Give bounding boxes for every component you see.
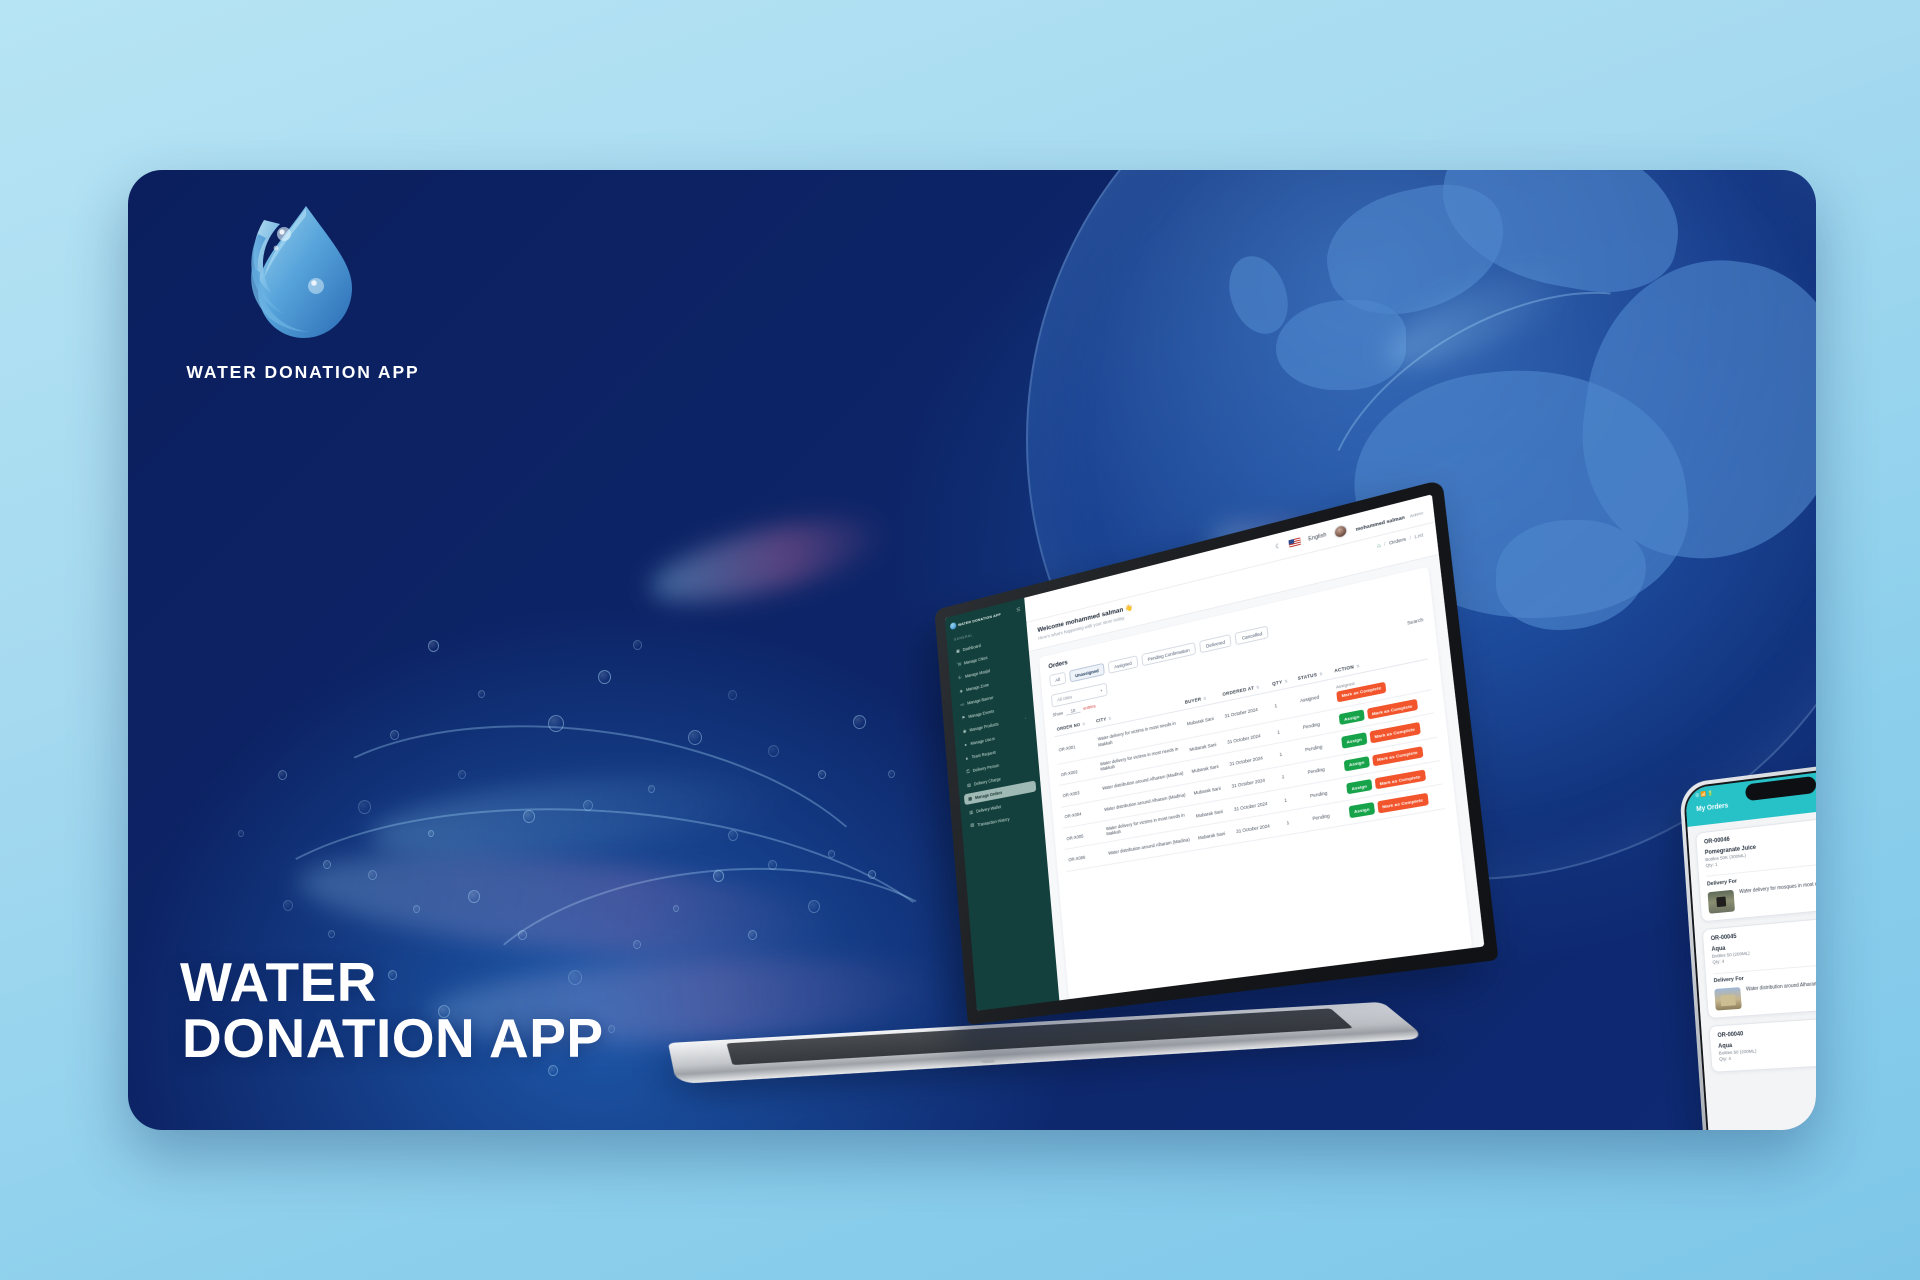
- laptop-screen: WATER DONATION APP ☰ GENERAL ▣DashboardἽ…: [945, 494, 1485, 1011]
- sidebar-item-list: ▣DashboardἽ9Manage Cities☪Manage Masjid◈…: [952, 630, 1039, 833]
- sidebar-item-label: Manage Events: [968, 709, 994, 719]
- bubble-icon: [478, 690, 485, 698]
- bubble-icon: [368, 870, 377, 880]
- order-id: OR-00046: [1704, 837, 1730, 846]
- show-count[interactable]: 10: [1066, 707, 1081, 716]
- search-label[interactable]: Search: [1407, 617, 1424, 626]
- mark-complete-button[interactable]: Mark as Complete: [1374, 770, 1425, 790]
- orders-table: ORDER NO⇅CITY⇅BUYER⇅ORDERED AT⇅QTY⇅STATU…: [1053, 644, 1445, 871]
- bubble-icon: [608, 1025, 615, 1033]
- assign-button[interactable]: Assign: [1349, 802, 1375, 817]
- assign-button[interactable]: Assign: [1339, 710, 1365, 726]
- breadcrumb-parent[interactable]: Orders: [1389, 537, 1407, 546]
- mosque-icon: ☪: [958, 675, 963, 681]
- sidebar-item-label: Manage Products: [969, 722, 998, 733]
- water-drop-icon: [228, 190, 378, 350]
- breadcrumb-sep: /: [1409, 536, 1411, 542]
- sidebar-item-label: Dashboard: [963, 643, 981, 652]
- bubble-icon: [518, 930, 527, 940]
- order-card-body: AquaBottles 50 (200ML)Qty: 4Total Amount…: [1718, 1034, 1816, 1064]
- product-block: Pomegranate JuiceBottles 50K (300ML)Qty:…: [1705, 845, 1758, 871]
- sidebar-item-label: Delivery Wallet: [976, 804, 1001, 814]
- city-filter-value: All cities: [1057, 694, 1072, 702]
- bubble-icon: [390, 730, 399, 740]
- delivery-person-icon: ⚿: [965, 769, 970, 775]
- product-block: AquaBottles 50 (200ML)Qty: 4: [1711, 944, 1750, 967]
- sidebar-item-label: Transaction History: [977, 816, 1010, 827]
- tab-delivered[interactable]: Delivered: [1199, 634, 1232, 654]
- sort-icon: ⇅: [1284, 679, 1288, 684]
- product-meta: Bottles 50 (200ML)Qty: 4: [1712, 951, 1751, 967]
- sidebar-item-label: Team Request: [972, 750, 996, 760]
- phone-header-title: My Orders: [1696, 802, 1728, 813]
- delivery-description: Water distribution around Alharam (Madin…: [1746, 980, 1816, 994]
- page-title-line2: DONATION APP: [180, 1010, 604, 1066]
- kaaba-thumb: [1708, 890, 1735, 914]
- order-id: OR-00045: [1711, 934, 1737, 942]
- sidebar-item-label: Delivery Charge: [974, 776, 1001, 786]
- admin-content: ☾ English mohammed salman Admin Welcome …: [1024, 494, 1484, 1000]
- sidebar-item-label: Manage Masjid: [965, 669, 990, 680]
- sidebar-item-label: Manage Orders: [975, 790, 1003, 800]
- delivery-for-label: Delivery For: [1707, 879, 1737, 888]
- sidebar-item-label: Manage Cities: [964, 655, 988, 665]
- event-icon: ⚑: [961, 715, 966, 721]
- phone-order-list[interactable]: OR-00046٢٠٢٤-١٢-٣١Pomegranate JuiceBottl…: [1687, 804, 1816, 1130]
- bubble-icon: [598, 670, 611, 684]
- bubble-icon: [458, 770, 466, 779]
- show-label: Show: [1052, 711, 1063, 718]
- order-id: OR-00040: [1717, 1032, 1743, 1040]
- cell-status: Pending: [1308, 801, 1347, 830]
- delivery-for-label: Delivery For: [1714, 976, 1744, 984]
- brand-logo: WATER DONATION APP: [178, 190, 428, 383]
- bubble-icon: [238, 830, 244, 837]
- mark-complete-button[interactable]: Mark as Complete: [1377, 793, 1428, 813]
- product-icon: ◉: [962, 728, 967, 734]
- bubble-icon: [323, 860, 331, 869]
- bubble-icon: [328, 930, 335, 938]
- bubble-icon: [428, 640, 439, 652]
- assign-button[interactable]: Assign: [1341, 733, 1367, 749]
- user-name: mohammed salman: [1355, 515, 1405, 533]
- sort-icon: ⇅: [1108, 716, 1112, 721]
- breadcrumb-current: List: [1414, 533, 1423, 541]
- bubble-icon: [428, 830, 434, 837]
- wave-icon: 👋: [1125, 604, 1134, 613]
- sort-icon: ⇅: [1319, 672, 1323, 677]
- bubble-icon: [548, 715, 564, 732]
- bubble-icon: [648, 785, 655, 793]
- charge-icon: ▤: [967, 782, 972, 788]
- page-title-line1: WATER: [180, 954, 604, 1010]
- menu-icon[interactable]: ☰: [1016, 606, 1021, 613]
- tab-assigned[interactable]: Assigned: [1108, 655, 1138, 674]
- water-drop-icon: [950, 622, 957, 630]
- avatar[interactable]: [1334, 523, 1349, 539]
- page-title: WATER DONATION APP: [180, 954, 604, 1066]
- chevron-down-icon: ▾: [1100, 687, 1102, 692]
- list-item[interactable]: OR-000452024-12-28AquaBottles 50 (200ML)…: [1702, 913, 1816, 1019]
- laptop-mockup: WATER DONATION APP ☰ GENERAL ▣DashboardἽ…: [668, 595, 1468, 1115]
- entries-label: entries: [1083, 704, 1096, 712]
- tab-cancelled[interactable]: Cancelled: [1235, 625, 1269, 645]
- city-icon: Ἵ9: [957, 662, 962, 668]
- assign-button[interactable]: Assign: [1344, 756, 1370, 772]
- team-icon: ▲: [964, 755, 969, 761]
- bubble-icon: [278, 770, 287, 780]
- brand-name: WATER DONATION APP: [178, 362, 428, 383]
- phone-screen: ◎ 📶 🔋 ◎ 4G ▂▄▆ 79% My Orders 🔔 OR-00046٢…: [1683, 763, 1816, 1130]
- chevron-right-icon: ›: [1025, 716, 1027, 721]
- hero-card: WATER DONATION APP WATER DONATION APP WA…: [128, 170, 1816, 1130]
- bubble-icon: [633, 940, 641, 949]
- bubble-icon: [358, 800, 371, 814]
- wallet-icon: ▥: [969, 809, 974, 815]
- sort-icon: ⇅: [1082, 722, 1086, 727]
- sidebar-logo-text: WATER DONATION APP: [958, 612, 1001, 627]
- sidebar-item-label: Delivery Person: [973, 763, 1000, 773]
- user-role: Admin: [1410, 510, 1424, 519]
- breadcrumb-sep: /: [1384, 542, 1386, 548]
- laptop-notch: [979, 1058, 996, 1063]
- list-item[interactable]: OR-000402024-12-26AquaBottles 50 (200ML)…: [1709, 1014, 1816, 1072]
- bubble-icon: [468, 890, 480, 903]
- masjid-thumb: [1714, 988, 1742, 1011]
- bubble-icon: [413, 905, 420, 913]
- sort-icon: ⇅: [1203, 696, 1207, 701]
- sidebar-item-label: Manage Zone: [966, 682, 989, 692]
- product-meta: Bottles 50 (200ML)Qty: 4: [1719, 1049, 1758, 1064]
- sidebar-item-label: Manage Banner: [967, 695, 994, 706]
- breadcrumb: ⌂ / Orders / List: [1377, 532, 1424, 550]
- laptop-keyboard: [726, 1008, 1353, 1065]
- orders-icon: ▦: [968, 796, 973, 802]
- zone-icon: ◈: [959, 688, 964, 694]
- phone-mockup: ◎ 📶 🔋 ◎ 4G ▂▄▆ 79% My Orders 🔔 OR-00046٢…: [1676, 770, 1816, 1130]
- cell-qty: 1: [1282, 808, 1310, 835]
- us-flag-icon[interactable]: [1288, 537, 1301, 548]
- users-icon: ●: [963, 742, 968, 748]
- mark-complete-button[interactable]: Mark as Complete: [1367, 699, 1418, 720]
- dashboard-icon: ▣: [956, 648, 961, 654]
- history-icon: ▧: [970, 823, 975, 829]
- assign-button[interactable]: Assign: [1346, 779, 1372, 794]
- language-label[interactable]: English: [1308, 531, 1327, 542]
- home-icon[interactable]: ⌂: [1377, 542, 1381, 549]
- bubble-icon: [633, 640, 642, 650]
- laptop-lid: WATER DONATION APP ☰ GENERAL ▣DashboardἽ…: [934, 479, 1498, 1025]
- mark-complete-button[interactable]: Mark as Complete: [1372, 746, 1423, 766]
- status-bar-left: ◎ 📶 🔋: [1695, 790, 1713, 798]
- tab-unassigned[interactable]: Unassigned: [1069, 663, 1105, 683]
- bubble-icon: [523, 810, 535, 823]
- product-block: AquaBottles 50 (200ML)Qty: 4: [1718, 1042, 1757, 1064]
- mark-complete-button[interactable]: Mark as Complete: [1369, 723, 1420, 744]
- bubble-icon: [583, 800, 593, 811]
- phone-body: ◎ 📶 🔋 ◎ 4G ▂▄▆ 79% My Orders 🔔 OR-00046٢…: [1679, 758, 1816, 1130]
- bubble-icon: [283, 900, 293, 911]
- sort-icon: ⇅: [1356, 664, 1360, 669]
- sort-icon: ⇅: [1256, 685, 1260, 690]
- sidebar-item-label: Manage Users: [970, 736, 995, 746]
- order-card-header: OR-000402024-12-26: [1717, 1023, 1816, 1039]
- moon-icon[interactable]: ☾: [1275, 542, 1282, 551]
- list-item[interactable]: OR-00046٢٠٢٤-١٢-٣١Pomegranate JuiceBottl…: [1695, 812, 1816, 922]
- banner-icon: ▭: [960, 702, 965, 708]
- tab-all[interactable]: All: [1049, 672, 1066, 688]
